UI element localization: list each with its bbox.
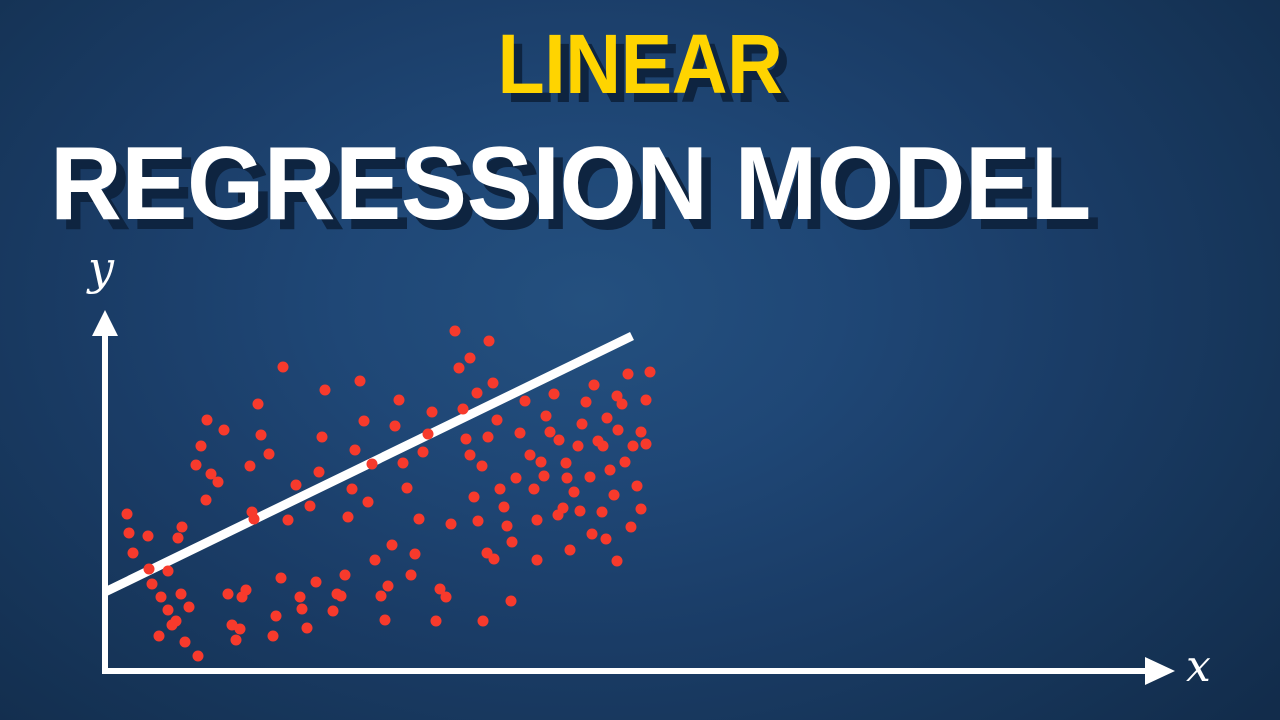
data-point — [469, 492, 480, 503]
data-point — [549, 389, 560, 400]
x-axis-label: x — [1186, 645, 1211, 689]
data-point — [541, 411, 552, 422]
data-point — [536, 457, 547, 468]
data-point — [565, 545, 576, 556]
data-point — [128, 548, 139, 559]
data-point — [144, 564, 155, 575]
data-point — [587, 529, 598, 540]
y-axis-label: y — [88, 245, 114, 291]
data-point — [446, 519, 457, 530]
data-point — [569, 487, 580, 498]
data-point — [147, 579, 158, 590]
data-point — [256, 430, 267, 441]
data-point — [202, 415, 213, 426]
data-point — [483, 432, 494, 443]
data-point — [427, 407, 438, 418]
data-point — [328, 606, 339, 617]
data-point — [376, 591, 387, 602]
data-point — [271, 611, 282, 622]
data-point — [414, 514, 425, 525]
data-point — [641, 439, 652, 450]
data-point — [320, 385, 331, 396]
data-point — [340, 570, 351, 581]
data-point — [305, 501, 316, 512]
data-point — [302, 623, 313, 634]
data-point — [477, 461, 488, 472]
data-point — [176, 589, 187, 600]
data-point — [488, 378, 499, 389]
data-point — [520, 396, 531, 407]
data-point — [363, 497, 374, 508]
data-point — [502, 521, 513, 532]
data-point — [636, 427, 647, 438]
data-point — [124, 528, 135, 539]
data-point — [539, 471, 550, 482]
data-point — [450, 326, 461, 337]
data-point — [278, 362, 289, 373]
data-point — [180, 637, 191, 648]
data-point — [465, 353, 476, 364]
data-point — [264, 449, 275, 460]
data-point — [515, 428, 526, 439]
data-point — [268, 631, 279, 642]
data-point — [478, 616, 489, 627]
data-point — [231, 635, 242, 646]
data-point — [370, 555, 381, 566]
data-point — [431, 616, 442, 627]
data-point — [484, 336, 495, 347]
data-point — [626, 522, 637, 533]
data-point — [163, 566, 174, 577]
data-point — [314, 467, 325, 478]
data-point — [390, 421, 401, 432]
data-point — [410, 549, 421, 560]
data-point — [636, 504, 647, 515]
data-point — [406, 570, 417, 581]
data-point — [143, 531, 154, 542]
data-point-layer — [0, 0, 1280, 720]
data-point — [499, 502, 510, 513]
data-point — [601, 534, 612, 545]
data-point — [193, 651, 204, 662]
data-point — [507, 537, 518, 548]
data-point — [511, 473, 522, 484]
data-point — [641, 395, 652, 406]
data-point — [465, 450, 476, 461]
data-point — [219, 425, 230, 436]
data-point — [291, 480, 302, 491]
data-point — [628, 441, 639, 452]
data-point — [311, 577, 322, 588]
data-point — [295, 592, 306, 603]
data-point — [620, 457, 631, 468]
data-point — [177, 522, 188, 533]
data-point — [495, 484, 506, 495]
data-point — [359, 416, 370, 427]
data-point — [156, 592, 167, 603]
data-point — [585, 472, 596, 483]
data-point — [184, 602, 195, 613]
data-point — [163, 605, 174, 616]
data-point — [402, 483, 413, 494]
data-point — [122, 509, 133, 520]
data-point — [223, 589, 234, 600]
data-point — [235, 624, 246, 635]
data-point — [562, 473, 573, 484]
data-point — [394, 395, 405, 406]
data-point — [645, 367, 656, 378]
data-point — [213, 477, 224, 488]
data-point — [249, 514, 260, 525]
data-point — [171, 616, 182, 627]
data-point — [336, 591, 347, 602]
data-point — [454, 363, 465, 374]
data-point — [355, 376, 366, 387]
data-point — [532, 515, 543, 526]
scatter-plot: y x — [0, 0, 1280, 720]
data-point — [380, 615, 391, 626]
data-point — [241, 585, 252, 596]
data-point — [598, 441, 609, 452]
data-point — [383, 581, 394, 592]
data-point — [525, 450, 536, 461]
data-point — [367, 459, 378, 470]
data-point — [473, 516, 484, 527]
data-point — [347, 484, 358, 495]
data-point — [387, 540, 398, 551]
data-point — [605, 465, 616, 476]
data-point — [597, 507, 608, 518]
data-point — [492, 415, 503, 426]
data-point — [561, 458, 572, 469]
data-point — [612, 391, 623, 402]
data-point — [196, 441, 207, 452]
data-point — [623, 369, 634, 380]
data-point — [458, 404, 469, 415]
data-point — [506, 596, 517, 607]
data-point — [553, 510, 564, 521]
data-point — [461, 434, 472, 445]
data-point — [581, 397, 592, 408]
data-point — [283, 515, 294, 526]
data-point — [489, 554, 500, 565]
data-point — [573, 441, 584, 452]
data-point — [398, 458, 409, 469]
data-point — [612, 556, 623, 567]
data-point — [154, 631, 165, 642]
data-point — [575, 506, 586, 517]
data-point — [191, 460, 202, 471]
data-point — [609, 490, 620, 501]
data-point — [350, 445, 361, 456]
data-point — [201, 495, 212, 506]
data-point — [441, 592, 452, 603]
data-point — [554, 435, 565, 446]
data-point — [423, 429, 434, 440]
data-point — [317, 432, 328, 443]
data-point — [173, 533, 184, 544]
data-point — [297, 604, 308, 615]
data-point — [632, 481, 643, 492]
data-point — [472, 388, 483, 399]
data-point — [253, 399, 264, 410]
data-point — [577, 419, 588, 430]
data-point — [589, 380, 600, 391]
data-point — [602, 413, 613, 424]
data-point — [245, 461, 256, 472]
data-point — [343, 512, 354, 523]
data-point — [418, 447, 429, 458]
data-point — [276, 573, 287, 584]
data-point — [532, 555, 543, 566]
poster-canvas: LINEAR REGRESSION MODEL y x — [0, 0, 1280, 720]
data-point — [529, 484, 540, 495]
data-point — [613, 425, 624, 436]
